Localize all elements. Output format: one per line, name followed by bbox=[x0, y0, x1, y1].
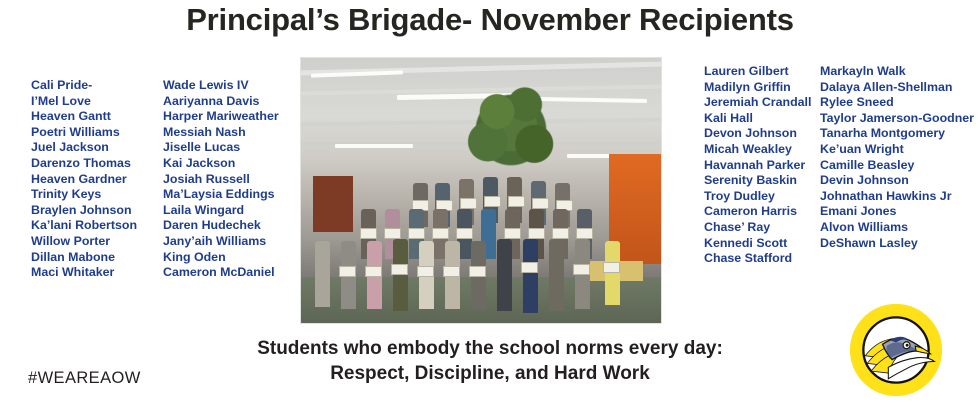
recipient-name: King Oden bbox=[163, 250, 279, 266]
recipient-name: Camille Beasley bbox=[820, 158, 974, 174]
certificate bbox=[443, 266, 460, 277]
recipient-name: Trinity Keys bbox=[31, 187, 137, 203]
recipient-name: Chase Stafford bbox=[704, 251, 811, 267]
certificate bbox=[469, 266, 486, 277]
caption: Students who embody the school norms eve… bbox=[0, 336, 980, 386]
name-column-4: Markayln Walk Dalaya Allen-Shellman Ryle… bbox=[820, 64, 974, 251]
recipient-name: Aariyanna Davis bbox=[163, 94, 279, 110]
recipient-name: Dalaya Allen-Shellman bbox=[820, 80, 974, 96]
certificate bbox=[384, 228, 401, 239]
certificate bbox=[432, 228, 449, 239]
recipient-name: Laila Wingard bbox=[163, 203, 279, 219]
recipient-name: Dillan Mabone bbox=[31, 250, 137, 266]
eagle-mascot-icon bbox=[848, 302, 944, 398]
caption-line-2: Respect, Discipline, and Hard Work bbox=[0, 361, 980, 386]
recipient-name: Maci Whitaker bbox=[31, 265, 137, 281]
student-figure bbox=[605, 241, 620, 305]
recipient-name: Kali Hall bbox=[704, 111, 811, 127]
recipient-name: Cameron Harris bbox=[704, 204, 811, 220]
recipient-name: Ma’Laysia Eddings bbox=[163, 187, 279, 203]
recipient-name: DeShawn Lasley bbox=[820, 236, 974, 252]
recipient-name: Jany’aih Williams bbox=[163, 234, 279, 250]
recipient-name: I’Mel Love bbox=[31, 94, 137, 110]
certificate bbox=[391, 264, 408, 275]
photo-background bbox=[301, 58, 661, 323]
recipient-name: Micah Weakley bbox=[704, 142, 811, 158]
certificate bbox=[365, 266, 382, 277]
recipient-name: Kai Jackson bbox=[163, 156, 279, 172]
recipient-name: Poetri Williams bbox=[31, 125, 137, 141]
page-title: Principal’s Brigade- November Recipients bbox=[0, 2, 980, 38]
doorway bbox=[313, 176, 353, 232]
certificate bbox=[456, 228, 473, 239]
recipient-name: Heaven Gantt bbox=[31, 109, 137, 125]
certificate bbox=[603, 262, 620, 273]
caption-line-1: Students who embody the school norms eve… bbox=[257, 338, 723, 359]
student-figure bbox=[549, 239, 564, 311]
recipient-name: Kennedi Scott bbox=[704, 236, 811, 252]
certificate bbox=[576, 228, 593, 239]
certificate bbox=[484, 196, 501, 207]
recipient-name: Heaven Gardner bbox=[31, 172, 137, 188]
group-photo bbox=[300, 57, 662, 324]
certificate bbox=[552, 228, 569, 239]
recipient-name: Cameron McDaniel bbox=[163, 265, 279, 281]
student-figure bbox=[497, 239, 512, 311]
recipient-name: Ka’lani Robertson bbox=[31, 218, 137, 234]
recipient-name: Jeremiah Crandall bbox=[704, 95, 811, 111]
certificate bbox=[417, 266, 434, 277]
recipient-name: Havannah Parker bbox=[704, 158, 811, 174]
recipient-name: Braylen Johnson bbox=[31, 203, 137, 219]
recipient-name: Madilyn Griffin bbox=[704, 80, 811, 96]
certificate bbox=[508, 196, 525, 207]
atrium-tree bbox=[453, 72, 569, 188]
eagle-mascot-logo bbox=[848, 302, 944, 398]
recipient-name: Juel Jackson bbox=[31, 140, 137, 156]
recipient-name: Johnathan Hawkins Jr bbox=[820, 189, 974, 205]
recipient-name: Markayln Walk bbox=[820, 64, 974, 80]
certificate bbox=[504, 228, 521, 239]
certificate bbox=[528, 228, 545, 239]
certificate bbox=[521, 262, 538, 273]
recipient-name: Jiselle Lucas bbox=[163, 140, 279, 156]
recipient-name: Alvon Williams bbox=[820, 220, 974, 236]
ceiling-light bbox=[335, 144, 413, 148]
student-figure bbox=[523, 239, 538, 313]
certificate bbox=[532, 198, 549, 209]
recipient-name: Lauren Gilbert bbox=[704, 64, 811, 80]
recipient-name: Tanarha Montgomery bbox=[820, 126, 974, 142]
recipient-name: Rylee Sneed bbox=[820, 95, 974, 111]
name-column-1: Cali Pride- I’Mel Love Heaven Gantt Poet… bbox=[31, 78, 137, 281]
hashtag-text: #WEAREAOW bbox=[28, 369, 141, 388]
recipient-name: Harper Mariweather bbox=[163, 109, 279, 125]
certificate bbox=[360, 228, 377, 239]
certificate bbox=[408, 228, 425, 239]
recipient-name: Emani Jones bbox=[820, 204, 974, 220]
student-figure bbox=[393, 239, 408, 311]
recipient-name: Devin Johnson bbox=[820, 173, 974, 189]
slide-canvas: Principal’s Brigade- November Recipients… bbox=[0, 0, 980, 400]
recipient-name: Chase’ Ray bbox=[704, 220, 811, 236]
certificate bbox=[339, 266, 356, 277]
recipient-name: Troy Dudley bbox=[704, 189, 811, 205]
certificate bbox=[573, 264, 590, 275]
recipient-name: Ke’uan Wright bbox=[820, 142, 974, 158]
name-column-3: Lauren Gilbert Madilyn Griffin Jeremiah … bbox=[704, 64, 811, 267]
student-figure bbox=[315, 241, 330, 307]
recipient-name: Taylor Jamerson-Goodner bbox=[820, 111, 974, 127]
recipient-name: Messiah Nash bbox=[163, 125, 279, 141]
recipient-name: Serenity Baskin bbox=[704, 173, 811, 189]
name-column-2: Wade Lewis IV Aariyanna Davis Harper Mar… bbox=[163, 78, 279, 281]
recipient-name: Wade Lewis IV bbox=[163, 78, 279, 94]
recipient-name: Josiah Russell bbox=[163, 172, 279, 188]
recipient-name: Darenzo Thomas bbox=[31, 156, 137, 172]
certificate bbox=[460, 198, 477, 209]
recipient-name: Cali Pride- bbox=[31, 78, 137, 94]
recipient-name: Daren Hudechek bbox=[163, 218, 279, 234]
recipient-name: Devon Johnson bbox=[704, 126, 811, 142]
recipient-name: Willow Porter bbox=[31, 234, 137, 250]
